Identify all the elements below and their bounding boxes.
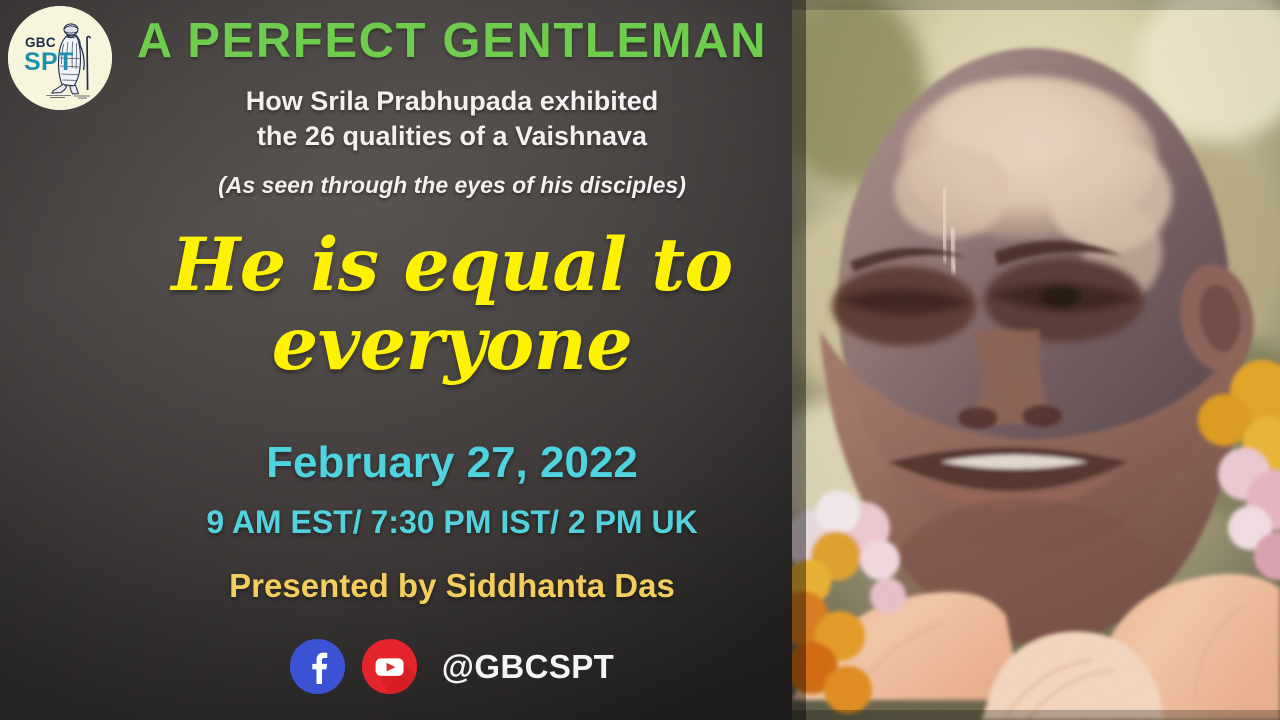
social-handle: @GBCSPT <box>442 650 615 683</box>
quote-line-2: everyone <box>112 305 792 384</box>
event-times: 9 AM EST/ 7:30 PM IST/ 2 PM UK <box>112 506 792 538</box>
facebook-glyph <box>290 639 345 694</box>
poster-canvas: GBC SPT A PERFECT GENTLEMAN How Srila Pr… <box>0 0 1280 720</box>
logo-graphic: GBC SPT <box>8 6 112 110</box>
youtube-glyph <box>362 639 417 694</box>
subtitle-note: (As seen through the eyes of his discipl… <box>112 172 792 200</box>
poster-content: A PERFECT GENTLEMAN How Srila Prabhupada… <box>112 0 792 720</box>
social-row: @GBCSPT <box>112 639 792 694</box>
logo-spt-text: SPT <box>24 48 74 76</box>
subtitle-line-1: How Srila Prabhupada exhibited <box>112 84 792 119</box>
subtitle-line-2: the 26 qualities of a Vaishnava <box>112 119 792 154</box>
presenter-credit: Presented by Siddhanta Das <box>112 569 792 602</box>
portrait-photo-graphic <box>792 0 1280 720</box>
portrait-photo <box>792 0 1280 720</box>
quote-line-1: He is equal to <box>112 226 792 305</box>
page-title: A PERFECT GENTLEMAN <box>112 17 792 66</box>
subtitle: How Srila Prabhupada exhibited the 26 qu… <box>112 84 792 153</box>
event-date: February 27, 2022 <box>112 441 792 485</box>
gbc-spt-logo: GBC SPT <box>8 6 112 110</box>
quote-headline: He is equal to everyone <box>112 226 792 384</box>
youtube-icon[interactable] <box>362 639 417 694</box>
facebook-icon[interactable] <box>290 639 345 694</box>
